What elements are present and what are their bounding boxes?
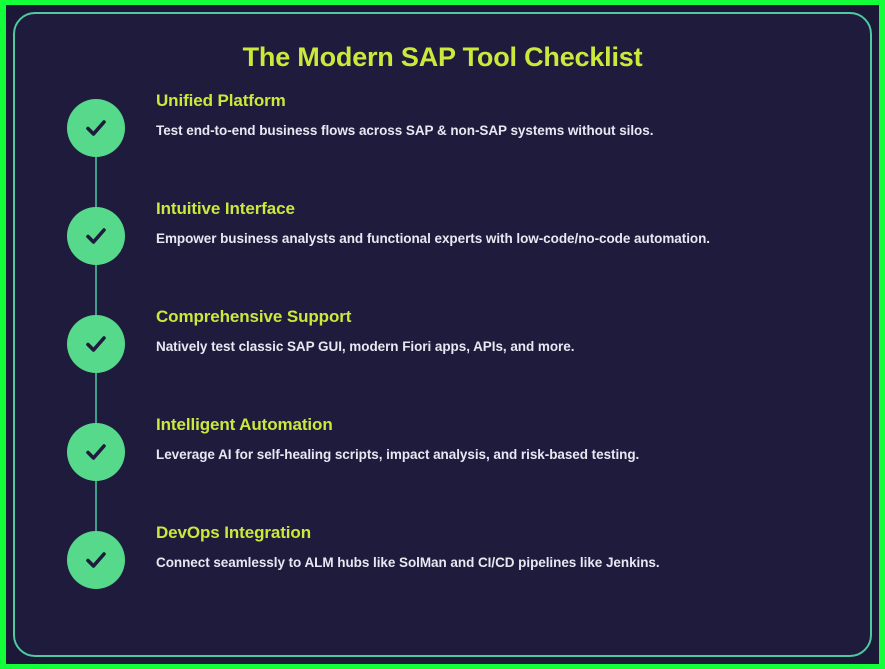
- list-item: Unified Platform Test end-to-end busines…: [67, 90, 870, 198]
- outer-frame: The Modern SAP Tool Checklist Unified Pl…: [6, 5, 879, 664]
- list-item-title: Intelligent Automation: [156, 414, 639, 436]
- list-item: Intuitive Interface Empower business ana…: [67, 198, 870, 306]
- check-icon: [67, 315, 125, 373]
- list-item-description: Connect seamlessly to ALM hubs like SolM…: [156, 553, 660, 573]
- list-item-title: Comprehensive Support: [156, 306, 574, 328]
- list-item: DevOps Integration Connect seamlessly to…: [67, 522, 870, 630]
- list-item-text: Intelligent Automation Leverage AI for s…: [156, 414, 639, 465]
- list-item-description: Natively test classic SAP GUI, modern Fi…: [156, 337, 574, 357]
- list-item-text: Intuitive Interface Empower business ana…: [156, 198, 710, 249]
- list-item-text: DevOps Integration Connect seamlessly to…: [156, 522, 660, 573]
- check-icon: [67, 99, 125, 157]
- list-item: Comprehensive Support Natively test clas…: [67, 306, 870, 414]
- check-icon: [67, 423, 125, 481]
- page-title: The Modern SAP Tool Checklist: [15, 42, 870, 73]
- list-item-text: Comprehensive Support Natively test clas…: [156, 306, 574, 357]
- list-item: Intelligent Automation Leverage AI for s…: [67, 414, 870, 522]
- check-icon: [67, 531, 125, 589]
- checklist-list: Unified Platform Test end-to-end busines…: [15, 90, 870, 630]
- check-icon: [67, 207, 125, 265]
- list-item-text: Unified Platform Test end-to-end busines…: [156, 90, 653, 141]
- checklist-card: The Modern SAP Tool Checklist Unified Pl…: [13, 12, 872, 657]
- page-root: { "card": { "title": "The Modern SAP Too…: [0, 0, 885, 669]
- list-item-description: Test end-to-end business flows across SA…: [156, 121, 653, 141]
- list-item-title: Intuitive Interface: [156, 198, 710, 220]
- list-item-title: Unified Platform: [156, 90, 653, 112]
- list-item-title: DevOps Integration: [156, 522, 660, 544]
- list-item-description: Leverage AI for self-healing scripts, im…: [156, 445, 639, 465]
- list-item-description: Empower business analysts and functional…: [156, 229, 710, 249]
